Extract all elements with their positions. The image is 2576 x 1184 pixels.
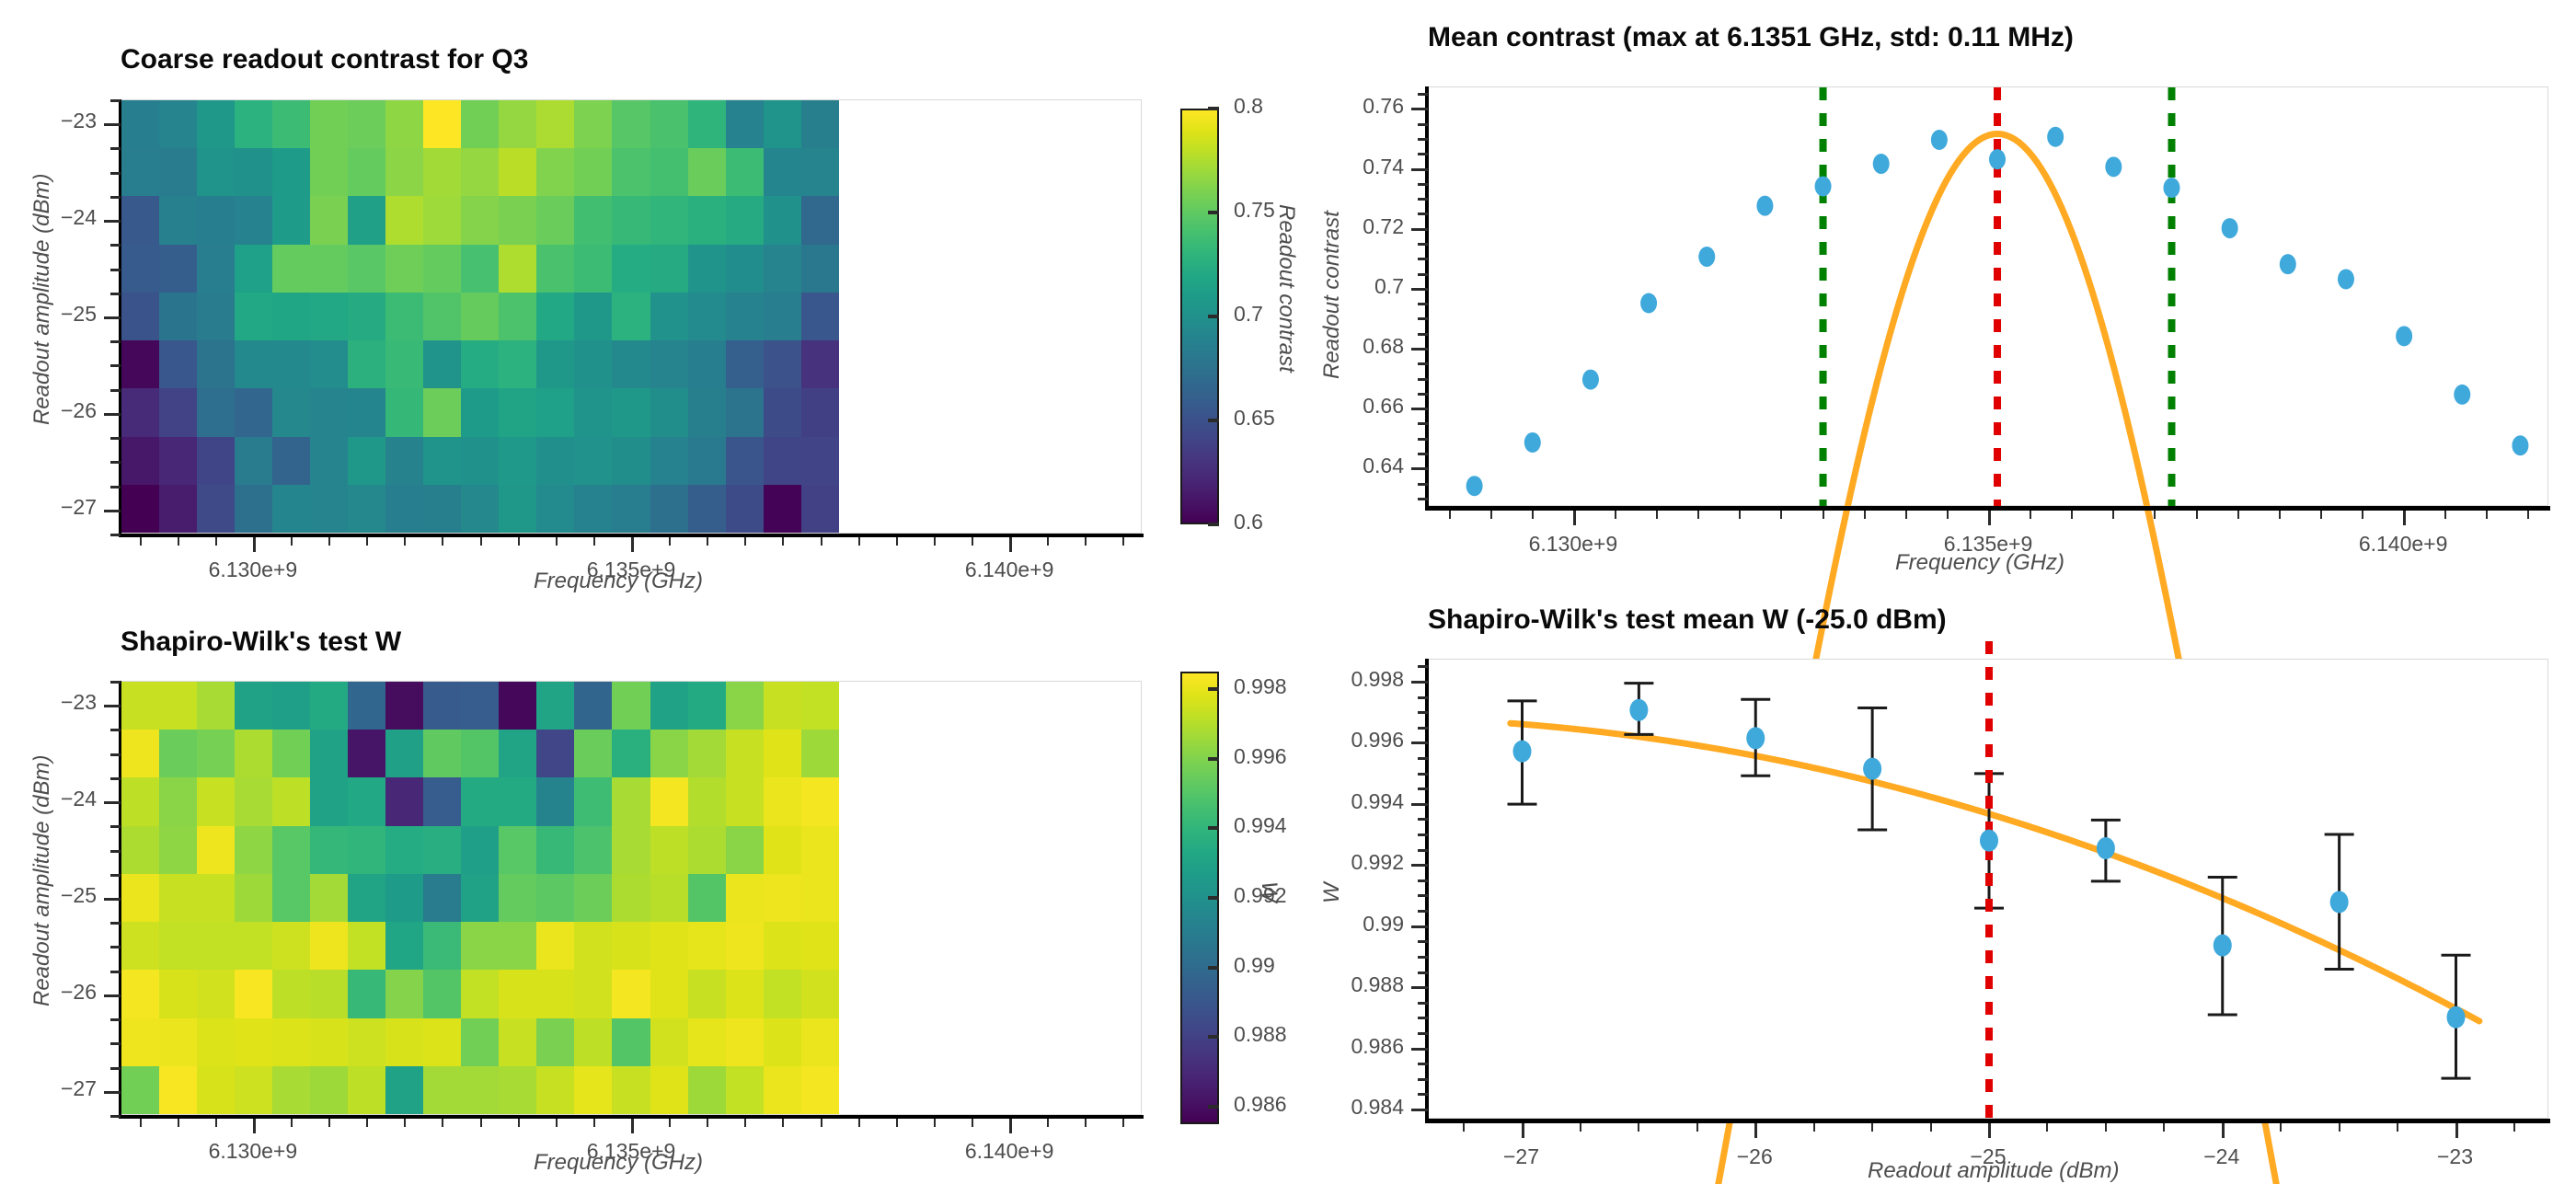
axis-tick — [1418, 333, 1428, 336]
axis-tick — [328, 1119, 330, 1127]
heatmap-cell — [801, 970, 839, 1017]
heatmap-cell — [688, 777, 726, 825]
heatmap-cell — [764, 682, 801, 730]
heatmap-cell — [235, 1066, 272, 1114]
axis-tick — [1418, 198, 1428, 201]
heatmap-cell — [348, 340, 385, 388]
axis-tick — [1463, 1123, 1465, 1132]
heatmap-cell — [310, 196, 348, 244]
axis-tick — [744, 537, 746, 546]
heatmap-cell — [272, 485, 310, 533]
heatmap-cell — [574, 730, 612, 777]
heatmap-cell — [688, 1066, 726, 1114]
axis-tick — [110, 99, 121, 102]
axis-tick-label: 0.988 — [1351, 972, 1404, 997]
axis-tick — [2154, 511, 2156, 519]
axis-tick-label: 0.75 — [1234, 198, 1275, 223]
heatmap-cell — [310, 922, 348, 970]
shapiro-mean-svg — [1429, 660, 2549, 1120]
yaxis-label-bottom-right: W — [1319, 882, 1345, 903]
heatmap-cell — [423, 100, 461, 148]
axis-tick — [782, 537, 784, 546]
axis-tick — [2030, 511, 2031, 519]
heatmap-cell — [574, 293, 612, 340]
axis-tick-label: 0.7 — [1374, 274, 1404, 299]
heatmap-cell — [461, 1066, 499, 1114]
heatmap-cell — [726, 970, 764, 1017]
axis-tick — [110, 269, 121, 271]
heatmap-cell — [121, 826, 159, 874]
heatmap-cell — [574, 100, 612, 148]
heatmap-cell — [423, 196, 461, 244]
heatmap-cell — [499, 437, 536, 485]
axis-tick — [934, 537, 936, 546]
heatmap-plot-area-w — [121, 681, 1142, 1115]
axis-tick — [1208, 315, 1219, 318]
axis-tick-label: 0.99 — [1234, 953, 1275, 978]
axis-tick — [1411, 467, 1428, 470]
heatmap-cell — [310, 340, 348, 388]
axis-tick-label: −23 — [61, 690, 97, 715]
axis-tick — [518, 537, 520, 546]
axis-tick — [215, 1119, 217, 1127]
heatmap-cell — [688, 293, 726, 340]
heatmap-cell — [235, 437, 272, 485]
yaxis-label-bottom-left: Readout amplitude (dBm) — [29, 755, 55, 1006]
panel-mean-contrast: Mean contrast (max at 6.1351 GHz, std: 0… — [1288, 0, 2576, 591]
heatmap-cell — [159, 970, 197, 1017]
heatmap-cell — [272, 388, 310, 436]
axis-tick — [140, 1119, 142, 1127]
axis-tick — [1122, 1119, 1124, 1127]
axis-tick — [1754, 1123, 1757, 1138]
data-point — [1640, 293, 1657, 314]
heatmap-cell — [385, 682, 423, 730]
heatmap-cell — [688, 874, 726, 922]
axis-tick-label: 0.994 — [1351, 789, 1404, 814]
axis-tick — [2279, 511, 2281, 519]
heatmap-cell — [801, 245, 839, 293]
heatmap-cell — [801, 100, 839, 148]
heatmap-cell — [461, 293, 499, 340]
data-point — [2454, 385, 2470, 405]
axis-tick-label: 0.68 — [1363, 334, 1404, 359]
panel-coarse-readout-contrast: Coarse readout contrast for Q3 6.130e+96… — [0, 0, 1288, 591]
axis-tick — [631, 1119, 634, 1133]
heatmap-cell — [121, 340, 159, 388]
axis-tick — [1208, 1035, 1219, 1039]
axis-tick — [2280, 1123, 2282, 1132]
axis-tick — [1411, 348, 1428, 351]
axis-tick — [110, 1067, 121, 1070]
axis-tick — [1411, 1048, 1428, 1051]
heatmap-cell — [348, 730, 385, 777]
heatmap-cell — [574, 682, 612, 730]
heatmap-cell — [423, 970, 461, 1017]
heatmap-cell — [650, 340, 688, 388]
heatmap-cell — [612, 388, 650, 436]
heatmap-cell — [461, 388, 499, 436]
data-point — [2396, 326, 2412, 346]
axis-tick — [556, 537, 558, 546]
axis-tick — [1418, 1032, 1428, 1035]
heatmap-cell — [726, 730, 764, 777]
heatmap-cell — [650, 196, 688, 244]
data-point — [2222, 218, 2238, 238]
heatmap-cell — [499, 1066, 536, 1114]
heatmap-cell — [197, 245, 235, 293]
axis-tick — [1522, 1123, 1524, 1138]
heatmap-cell — [385, 922, 423, 970]
heatmap-cell — [574, 196, 612, 244]
axis-tick — [442, 537, 443, 546]
heatmap-cell — [764, 970, 801, 1017]
heatmap-cell — [235, 245, 272, 293]
heatmap-cell — [536, 874, 574, 922]
axis-tick — [1905, 511, 1907, 519]
heatmap-cell — [801, 730, 839, 777]
heatmap-cell — [121, 777, 159, 825]
colorbar-label-w: W — [1256, 881, 1282, 902]
data-point — [2330, 891, 2349, 913]
heatmap-cell — [348, 293, 385, 340]
axis-tick — [1208, 419, 1219, 422]
heatmap-cell — [650, 730, 688, 777]
axis-tick — [858, 537, 860, 546]
heatmap-cell — [801, 293, 839, 340]
heatmap-cell — [235, 100, 272, 148]
heatmap-cell — [574, 970, 612, 1017]
heatmap-cell — [688, 148, 726, 196]
axis-tick — [110, 825, 121, 828]
axis-tick — [1418, 711, 1428, 714]
heatmap-cell — [348, 388, 385, 436]
heatmap-cell — [385, 1018, 423, 1066]
axis-tick — [1418, 1002, 1428, 1005]
axis-tick — [1418, 93, 1428, 96]
axis-tick — [1823, 511, 1824, 519]
axis-tick — [1418, 393, 1428, 396]
axis-tick — [1208, 966, 1219, 970]
heatmap-cell — [536, 245, 574, 293]
heatmap-cell — [423, 922, 461, 970]
heatmap-cell — [461, 148, 499, 196]
heatmap-cell — [650, 922, 688, 970]
heatmap-cell — [272, 682, 310, 730]
heatmap-cell — [612, 682, 650, 730]
heatmap-cell — [764, 777, 801, 825]
axis-tick — [1418, 773, 1428, 776]
heatmap-cell — [348, 196, 385, 244]
heatmap-cell — [197, 148, 235, 196]
axis-tick-label: −25 — [61, 883, 97, 908]
axis-tick — [1085, 1119, 1087, 1127]
heatmap-cell — [121, 1018, 159, 1066]
axis-tick — [1696, 1123, 1698, 1132]
heatmap-cell — [612, 340, 650, 388]
axis-tick — [972, 537, 973, 546]
heatmap-cell — [121, 1066, 159, 1114]
heatmap-cell — [764, 1066, 801, 1114]
heatmap-cell — [801, 388, 839, 436]
axis-tick — [1208, 687, 1219, 691]
axis-tick — [1411, 288, 1428, 291]
axis-tick-label: 0.66 — [1363, 394, 1404, 419]
axis-tick-label: 0.99 — [1363, 912, 1404, 937]
heatmap-cell — [688, 340, 726, 388]
axis-tick — [110, 389, 121, 392]
axis-tick — [110, 340, 121, 343]
heatmap-cell — [574, 1066, 612, 1114]
heatmap-cell — [159, 148, 197, 196]
heatmap-cell — [310, 682, 348, 730]
heatmap-cell — [121, 388, 159, 436]
heatmap-cell — [423, 777, 461, 825]
axis-tick-label: 6.140e+9 — [965, 1139, 1054, 1164]
axis-tick — [1697, 511, 1699, 519]
axis-tick — [1532, 511, 1534, 519]
heatmap-cell — [461, 485, 499, 533]
heatmap-cell — [272, 437, 310, 485]
data-point — [1466, 476, 1483, 496]
axis-tick — [1864, 511, 1866, 519]
axis-tick — [1418, 498, 1428, 500]
heatmap-cell — [574, 826, 612, 874]
data-point — [1863, 758, 1881, 780]
heatmap-cell — [688, 826, 726, 874]
heatmap-cell — [612, 485, 650, 533]
axis-tick — [669, 537, 671, 546]
axis-tick — [110, 1115, 121, 1118]
axis-tick-label: 0.998 — [1351, 667, 1404, 692]
axis-tick — [1449, 511, 1451, 519]
heatmap-cell — [612, 970, 650, 1017]
axis-tick — [110, 293, 121, 295]
heatmap-cell — [423, 485, 461, 533]
axis-tick-label: −26 — [1737, 1144, 1773, 1169]
axis-tick — [1947, 511, 1949, 519]
axis-tick — [110, 1042, 121, 1045]
axis-tick — [782, 1119, 784, 1127]
heatmap-cell — [726, 100, 764, 148]
axis-tick-label: −27 — [1503, 1144, 1539, 1169]
data-point — [1980, 830, 1998, 852]
heatmap-cell — [385, 340, 423, 388]
heatmap-cell — [764, 922, 801, 970]
axis-tick — [110, 196, 121, 199]
axis-tick — [2455, 1123, 2458, 1138]
heatmap-cell — [650, 1066, 688, 1114]
heatmap-cell — [159, 437, 197, 485]
axis-tick — [110, 874, 121, 877]
axis-tick — [858, 1119, 860, 1127]
heatmap-cell — [235, 970, 272, 1017]
heatmap-cell — [272, 970, 310, 1017]
axis-tick — [1047, 1119, 1049, 1127]
heatmap-cell — [385, 148, 423, 196]
axis-tick — [1988, 511, 1991, 525]
axis-tick — [1418, 378, 1428, 381]
heatmap-cell — [612, 148, 650, 196]
axis-tick — [1418, 665, 1428, 668]
heatmap-cell — [612, 293, 650, 340]
axis-tick — [1208, 1105, 1219, 1109]
heatmap-cell — [159, 682, 197, 730]
axis-tick — [518, 1119, 520, 1127]
heatmap-cell — [461, 970, 499, 1017]
heatmap-cell — [235, 196, 272, 244]
axis-tick — [1411, 803, 1428, 806]
heatmap-cell — [801, 437, 839, 485]
axis-tick — [1418, 894, 1428, 897]
data-point — [1756, 196, 1773, 216]
heatmap-cell — [423, 293, 461, 340]
heatmap-cell — [310, 100, 348, 148]
axis-tick — [110, 729, 121, 731]
heatmap-cell — [536, 196, 574, 244]
axis-tick — [1411, 168, 1428, 171]
heatmap-cell — [499, 970, 536, 1017]
axis-tick-label: 0.986 — [1234, 1092, 1287, 1117]
fit-curve — [1511, 723, 2479, 1021]
data-point — [2163, 178, 2179, 198]
axis-tick — [1208, 211, 1219, 214]
heatmap-cell — [801, 1018, 839, 1066]
data-point — [1873, 154, 1890, 174]
axis-tick — [291, 537, 293, 546]
heatmap-cell — [612, 196, 650, 244]
heatmap-cell — [385, 826, 423, 874]
data-point — [1746, 727, 1765, 749]
heatmap-cell — [235, 485, 272, 533]
axis-tick-label: −23 — [61, 109, 97, 133]
heatmap-cell — [348, 148, 385, 196]
axis-tick — [1656, 511, 1658, 519]
axis-tick — [178, 537, 179, 546]
heatmap-cell — [688, 100, 726, 148]
axis-tick — [1418, 1017, 1428, 1019]
axis-tick — [253, 1119, 256, 1133]
axis-tick — [1418, 438, 1428, 441]
axis-tick — [104, 123, 121, 126]
heatmap-cell — [801, 1066, 839, 1114]
data-point — [1698, 247, 1715, 267]
heatmap-cell — [461, 245, 499, 293]
axis-line — [1425, 86, 1429, 511]
axis-tick-label: 0.8 — [1234, 94, 1263, 119]
axis-tick — [110, 486, 121, 489]
heatmap-cell — [121, 730, 159, 777]
axis-tick — [1418, 1078, 1428, 1081]
heatmap-cell — [574, 922, 612, 970]
axis-tick — [104, 898, 121, 901]
heatmap-cell — [764, 1018, 801, 1066]
data-point — [2047, 127, 2064, 147]
axis-tick — [1813, 1123, 1815, 1132]
heatmap-grid-w — [121, 682, 839, 1114]
heatmap-cell — [310, 970, 348, 1017]
heatmap-cell — [272, 922, 310, 970]
axis-tick — [1418, 317, 1428, 320]
axis-tick — [2444, 511, 2446, 519]
heatmap-cell — [764, 388, 801, 436]
panel-shapiro-mean-w: Shapiro-Wilk's test mean W (-25.0 dBm) −… — [1288, 591, 2576, 1181]
axis-tick-label: −24 — [2203, 1144, 2239, 1169]
heatmap-cell — [726, 245, 764, 293]
heatmap-cell — [612, 777, 650, 825]
axis-tick — [110, 971, 121, 973]
axis-tick-label: 0.988 — [1234, 1022, 1287, 1047]
heatmap-cell — [310, 730, 348, 777]
axis-tick — [104, 801, 121, 804]
heatmap-cell — [385, 100, 423, 148]
heatmap-cell — [423, 1018, 461, 1066]
heatmap-cell — [650, 148, 688, 196]
panel-title-top-right: Mean contrast (max at 6.1351 GHz, std: 0… — [1428, 22, 2074, 53]
axis-tick-label: 0.996 — [1234, 744, 1287, 769]
heatmap-cell — [650, 777, 688, 825]
axis-tick — [1418, 727, 1428, 730]
axis-tick-label: −26 — [61, 980, 97, 1005]
heatmap-cell — [650, 485, 688, 533]
heatmap-cell — [159, 485, 197, 533]
xaxis-label-top-right: Frequency (GHz) — [1895, 550, 2064, 576]
axis-tick — [404, 1119, 406, 1127]
axis-tick-label: −24 — [61, 205, 97, 230]
heatmap-cell — [574, 485, 612, 533]
heatmap-cell — [159, 730, 197, 777]
heatmap-cell — [612, 922, 650, 970]
axis-tick — [1411, 408, 1428, 410]
heatmap-cell — [272, 874, 310, 922]
heatmap-cell — [764, 874, 801, 922]
heatmap-cell — [461, 437, 499, 485]
heatmap-cell — [159, 340, 197, 388]
heatmap-cell — [801, 148, 839, 196]
heatmap-cell — [726, 874, 764, 922]
axis-tick — [1411, 681, 1428, 684]
heatmap-cell — [499, 777, 536, 825]
heatmap-cell — [536, 485, 574, 533]
heatmap-cell — [764, 100, 801, 148]
heatmap-cell — [536, 1018, 574, 1066]
axis-tick — [110, 753, 121, 756]
heatmap-cell — [272, 826, 310, 874]
axis-tick-label: 0.74 — [1363, 155, 1404, 179]
axis-tick — [110, 681, 121, 684]
axis-tick-label: 6.140e+9 — [2359, 532, 2448, 557]
axis-tick — [1580, 1123, 1581, 1132]
heatmap-cell — [272, 293, 310, 340]
heatmap-cell — [348, 777, 385, 825]
axis-tick — [1871, 1123, 1873, 1132]
heatmap-cell — [121, 922, 159, 970]
axis-tick-label: 6.140e+9 — [965, 558, 1054, 582]
heatmap-cell — [348, 1018, 385, 1066]
axis-tick — [1418, 123, 1428, 126]
heatmap-cell — [423, 388, 461, 436]
heatmap-cell — [764, 485, 801, 533]
axis-tick-label: −24 — [61, 787, 97, 811]
heatmap-cell — [574, 1018, 612, 1066]
axis-tick — [178, 1119, 179, 1127]
axis-tick-label: −26 — [61, 398, 97, 423]
axis-tick — [104, 705, 121, 707]
axis-tick — [1009, 1119, 1012, 1133]
heatmap-cell — [688, 245, 726, 293]
heatmap-cell — [159, 826, 197, 874]
axis-tick — [480, 1119, 482, 1127]
